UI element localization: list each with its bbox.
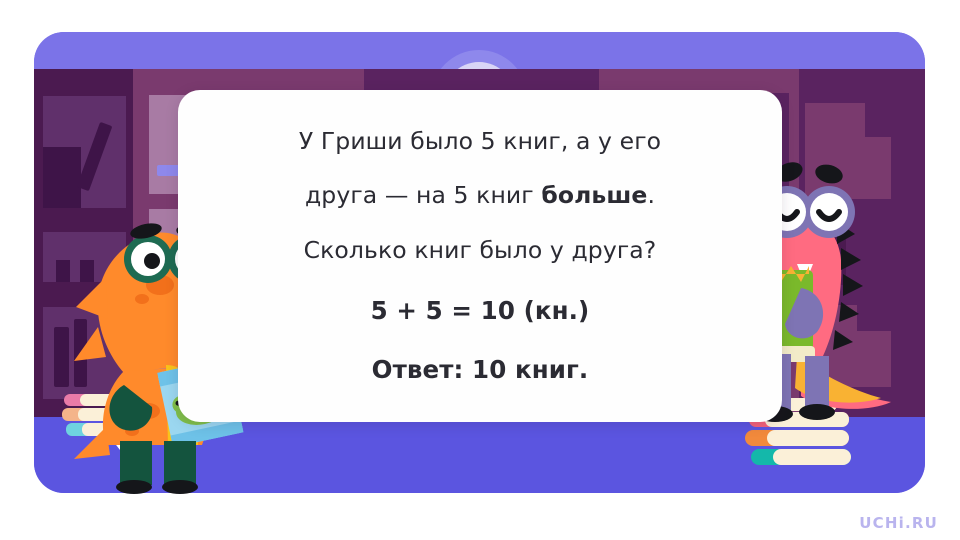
uchi-ru-logo: UCHi.RU: [859, 514, 938, 532]
problem-line-2-suffix: .: [647, 181, 655, 209]
slide-canvas: У Гриши было 5 книг, а у его друга — на …: [0, 0, 960, 540]
problem-line-2-emphasis: больше: [541, 181, 647, 209]
problem-question: Сколько книг было у друга?: [204, 239, 756, 263]
problem-line-2-prefix: друга — на 5 книг: [305, 181, 541, 209]
problem-line-2: друга — на 5 книг больше.: [204, 184, 756, 208]
solution-answer: Ответ: 10 книг.: [204, 358, 756, 383]
problem-card: У Гриши было 5 книг, а у его друга — на …: [178, 90, 782, 422]
problem-line-1: У Гриши было 5 книг, а у его: [204, 130, 756, 154]
solution-equation: 5 + 5 = 10 (кн.): [204, 299, 756, 324]
